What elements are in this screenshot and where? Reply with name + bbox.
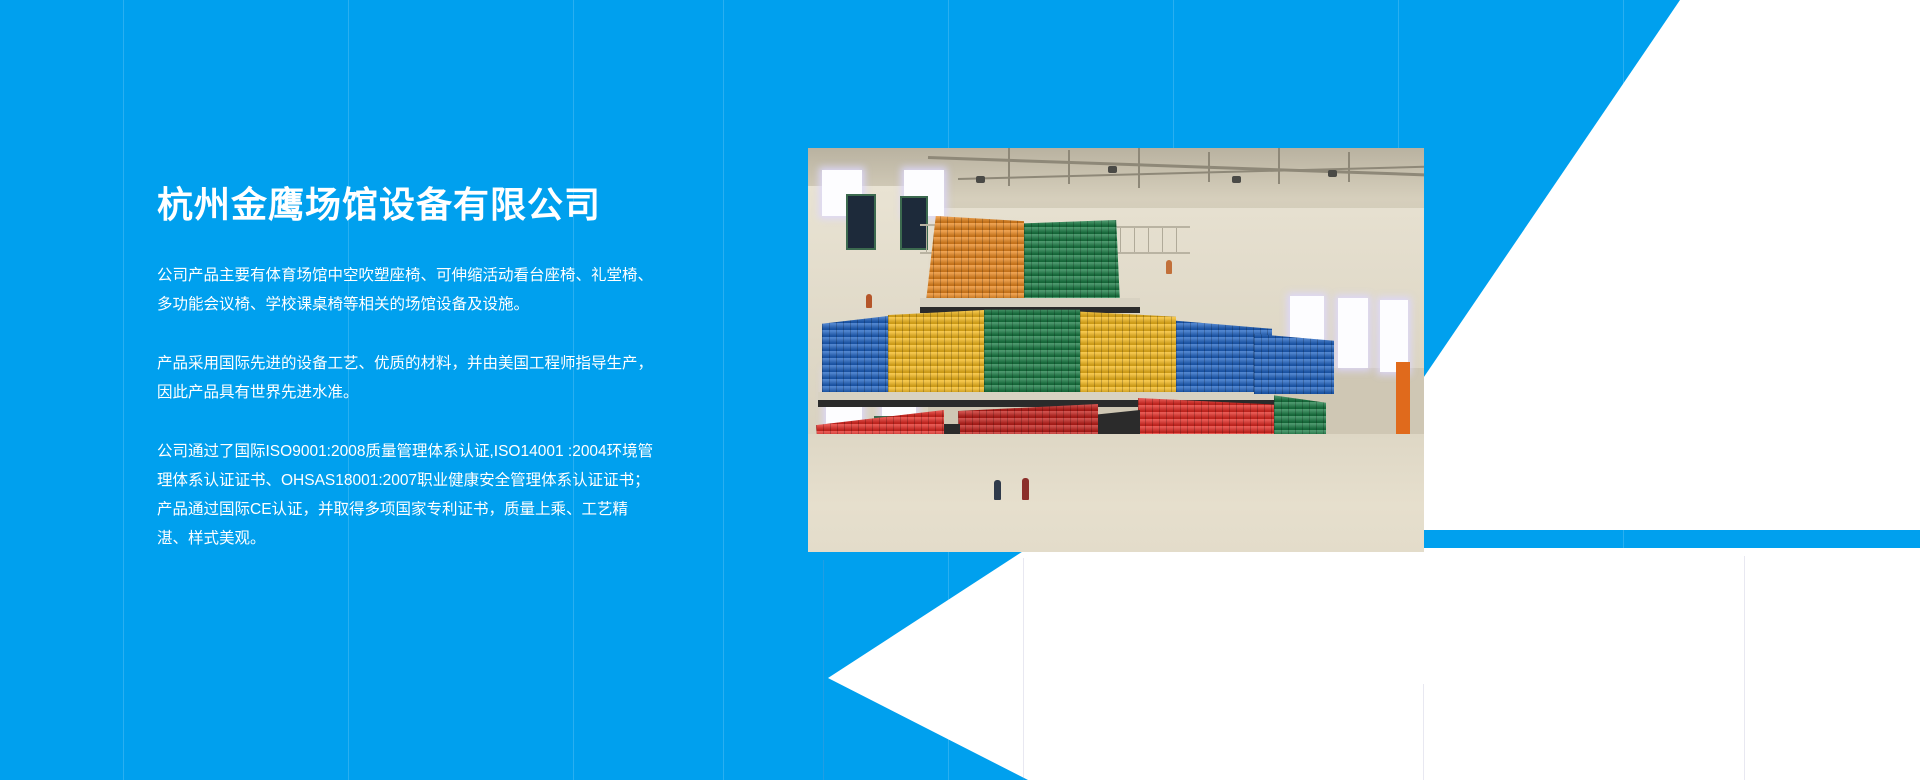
- photo-person: [1022, 478, 1029, 500]
- photo-person: [866, 294, 872, 308]
- stadium-seating-photo: [808, 148, 1424, 552]
- photo-seat-block-blue-left: [822, 316, 888, 394]
- company-title: 杭州金鹰场馆设备有限公司: [157, 183, 657, 227]
- photo-seat-block-yellow-left: [888, 310, 984, 394]
- photo-person: [994, 480, 1001, 500]
- photo-person: [1166, 260, 1172, 274]
- banner-paragraph-products: 公司产品主要有体育场馆中空吹塑座椅、可伸缩活动看台座椅、礼堂椅、多功能会议椅、学…: [157, 261, 655, 319]
- banner-paragraph-technology: 产品采用国际先进的设备工艺、优质的材料，并由美国工程师指导生产，因此产品具有世界…: [157, 349, 655, 407]
- photo-seat-block-green-mid: [984, 308, 1080, 394]
- banner-text-column: 杭州金鹰场馆设备有限公司 公司产品主要有体育场馆中空吹塑座椅、可伸缩活动看台座椅…: [157, 183, 657, 553]
- photo-court-floor: [808, 434, 1424, 552]
- stadium-seating-photo-content: [808, 148, 1424, 552]
- hero-banner: 杭州金鹰场馆设备有限公司 公司产品主要有体育场馆中空吹塑座椅、可伸缩活动看台座椅…: [0, 0, 1920, 780]
- banner-paragraph-certifications: 公司通过了国际ISO9001:2008质量管理体系认证,ISO14001 :20…: [157, 437, 655, 553]
- decorative-arrow-shape: [828, 548, 1920, 780]
- photo-seat-block-yellow-right: [1080, 310, 1176, 394]
- photo-seat-block-green-upper: [1024, 220, 1120, 304]
- photo-seat-block-orange-upper: [926, 216, 1024, 302]
